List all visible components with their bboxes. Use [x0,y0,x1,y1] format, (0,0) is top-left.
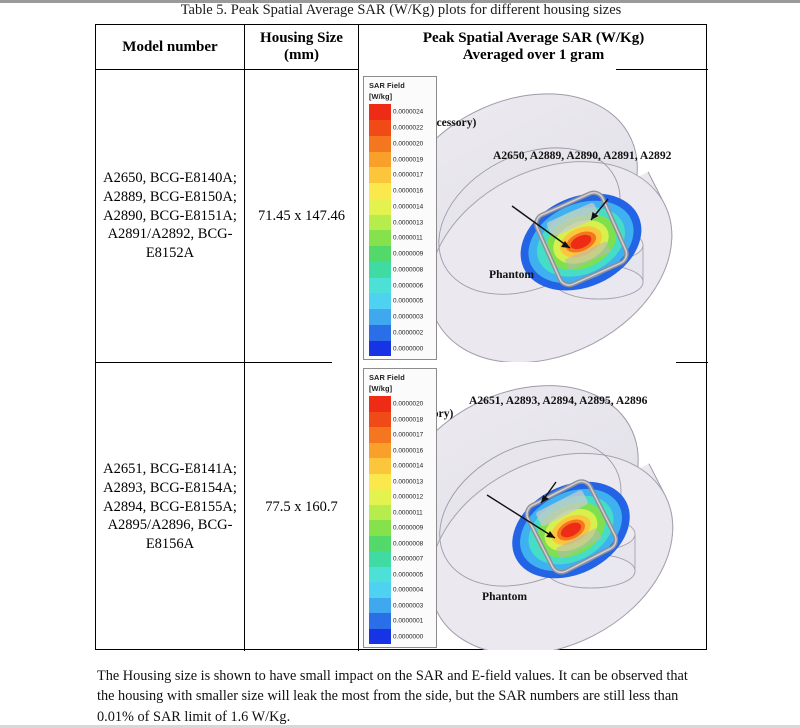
header-housing-size-line1: Housing Size [260,30,343,46]
colorbar-segment [369,427,391,443]
device-model-annotation: A2650, A2889, A2890, A2891, A2892 [493,148,671,163]
colorbar-tick-label: 0.0000014 [393,463,423,470]
colorbar-segment [369,551,391,567]
colorbar-segment [369,136,391,152]
header-model-number-label: Model number [122,39,217,56]
header-peak-sar-line2: Averaged over 1 gram [463,47,604,63]
table-row: A2650, BCG-E8140A; A2889, BCG-E8150A; A2… [96,70,244,362]
colorbar-tick-label: 0.0000020 [393,140,423,147]
colorbar-segment [369,613,391,629]
colorbar-segment [369,104,391,120]
colorbar-segment [369,309,391,325]
colorbar-segment [369,396,391,412]
colorbar-segment [369,183,391,199]
colorbar-title-line2: [W/kg] [369,384,432,395]
closing-paragraph: The Housing size is shown to have small … [97,666,697,727]
device-model-annotation: A2651, A2893, A2894, A2895, A2896 [469,393,647,408]
header-model-number: Model number [96,25,244,69]
colorbar-gradient-strip [369,104,391,356]
colorbar-tick-label: 0.0000013 [393,219,423,226]
colorbar-segment [369,293,391,309]
cell-housing-size-value: 77.5 x 160.7 [265,498,338,517]
colorbar-legend: SAR Field [W/kg] 0.00000200.00000180.000… [363,368,437,648]
header-peak-sar: Peak Spatial Average SAR (W/Kg) Averaged… [359,25,708,69]
colorbar-tick-label: 0.0000017 [393,432,423,439]
header-housing-size-label: Housing Size (mm) [260,30,343,64]
colorbar-tick-label: 0.0000006 [393,282,423,289]
colorbar-segment [369,536,391,552]
colorbar-segment [369,152,391,168]
phantom-annotation-label: Phantom [489,268,534,281]
cell-model-number: A2650, BCG-E8140A; A2889, BCG-E8150A; A2… [96,169,244,263]
colorbar-title-line2: [W/kg] [369,92,432,103]
colorbar-tick-label: 0.0000008 [393,540,423,547]
colorbar-tick-label: 0.0000020 [393,401,423,408]
colorbar-title: SAR Field [W/kg] [369,373,432,394]
cell-housing-size: 77.5 x 160.7 [245,364,358,650]
colorbar-segment [369,582,391,598]
phantom-annotation-label: Phantom [482,590,527,603]
colorbar-segment [369,199,391,215]
colorbar-segment [369,412,391,428]
colorbar-tick-label: 0.0000001 [393,618,423,625]
colorbar-segment [369,629,391,645]
phantom-annotation: Phantom [489,267,534,282]
colorbar-tick-label: 0.0000022 [393,125,423,132]
colorbar-tick-label: 0.0000019 [393,156,423,163]
colorbar-segment [369,120,391,136]
device-model-annotation-label: A2650, A2889, A2890, A2891, A2892 [493,149,671,162]
header-peak-sar-line1: Peak Spatial Average SAR (W/Kg) [423,30,644,46]
colorbar-segment [369,458,391,474]
colorbar-segment [369,520,391,536]
colorbar-tick-label: 0.0000005 [393,571,423,578]
colorbar-body: 0.00000200.00000180.00000170.00000160.00… [369,396,432,644]
colorbar-segment [369,167,391,183]
colorbar-tick-label: 0.0000008 [393,266,423,273]
colorbar-tick-label: 0.0000000 [393,633,423,640]
colorbar-tick-label: 0.0000003 [393,314,423,321]
colorbar-title-line1: SAR Field [369,373,432,384]
colorbar-tick-label: 0.0000013 [393,478,423,485]
colorbar-segment [369,567,391,583]
colorbar-tick-label: 0.0000012 [393,494,423,501]
table-caption: Table 5. Peak Spatial Average SAR (W/Kg)… [95,2,707,19]
colorbar-tick-label: 0.0000007 [393,556,423,563]
colorbar-gradient-strip [369,396,391,644]
colorbar-tick-label: 0.0000005 [393,298,423,305]
colorbar-segment [369,262,391,278]
colorbar-tick-label: 0.0000004 [393,587,423,594]
colorbar-segment [369,230,391,246]
colorbar-segment [369,215,391,231]
colorbar-segment [369,598,391,614]
colorbar-tick-label: 0.0000009 [393,525,423,532]
colorbar-tick-label: 0.0000017 [393,172,423,179]
sar-table: Model number Housing Size (mm) Peak Spat… [95,24,707,650]
colorbar-segment [369,246,391,262]
colorbar-title: SAR Field [W/kg] [369,81,432,102]
colorbar-segment [369,278,391,294]
colorbar-title-line1: SAR Field [369,81,432,92]
colorbar-tick-label: 0.0000003 [393,602,423,609]
document-page: Table 5. Peak Spatial Average SAR (W/Kg)… [0,0,800,728]
header-peak-sar-label: Peak Spatial Average SAR (W/Kg) Averaged… [423,30,644,64]
colorbar-segment [369,489,391,505]
colorbar-tick-label: 0.0000014 [393,203,423,210]
phantom-annotation: Phantom [482,589,527,604]
colorbar-tick-label: 0.0000009 [393,251,423,258]
colorbar-tick-label: 0.0000011 [393,509,423,516]
colorbar-tick-label: 0.0000024 [393,109,423,116]
colorbar-tick-label: 0.0000016 [393,447,423,454]
header-housing-size-line2: (mm) [284,47,319,63]
colorbar-segment [369,505,391,521]
colorbar-body: 0.00000240.00000220.00000200.00000190.00… [369,104,432,356]
device-model-annotation-label: A2651, A2893, A2894, A2895, A2896 [469,394,647,407]
colorbar-tick-label: 0.0000011 [393,235,423,242]
colorbar-segment [369,341,391,357]
colorbar-segment [369,325,391,341]
colorbar-segment [369,443,391,459]
colorbar-tick-label: 0.0000002 [393,329,423,336]
cell-housing-size: 71.45 x 147.46 [245,70,358,362]
table-row: A2651, BCG-E8141A; A2893, BCG-E8154A; A2… [96,364,244,650]
colorbar-legend: SAR Field [W/kg] 0.00000240.00000220.000… [363,76,437,360]
cell-model-number: A2651, BCG-E8141A; A2893, BCG-E8154A; A2… [96,460,244,554]
sar-plot-row-2: A2651, A2893, A2894, A2895, A2896 Rx (Ac… [359,364,708,650]
colorbar-segment [369,474,391,490]
sar-plot-row-1: A2650, A2889, A2890, A2891, A2892 Rx (Ac… [359,70,708,362]
colorbar-tick-label: 0.0000000 [393,345,423,352]
cell-housing-size-value: 71.45 x 147.46 [258,207,345,226]
colorbar-tick-label: 0.0000016 [393,188,423,195]
header-housing-size: Housing Size (mm) [245,25,358,69]
colorbar-tick-label: 0.0000018 [393,416,423,423]
